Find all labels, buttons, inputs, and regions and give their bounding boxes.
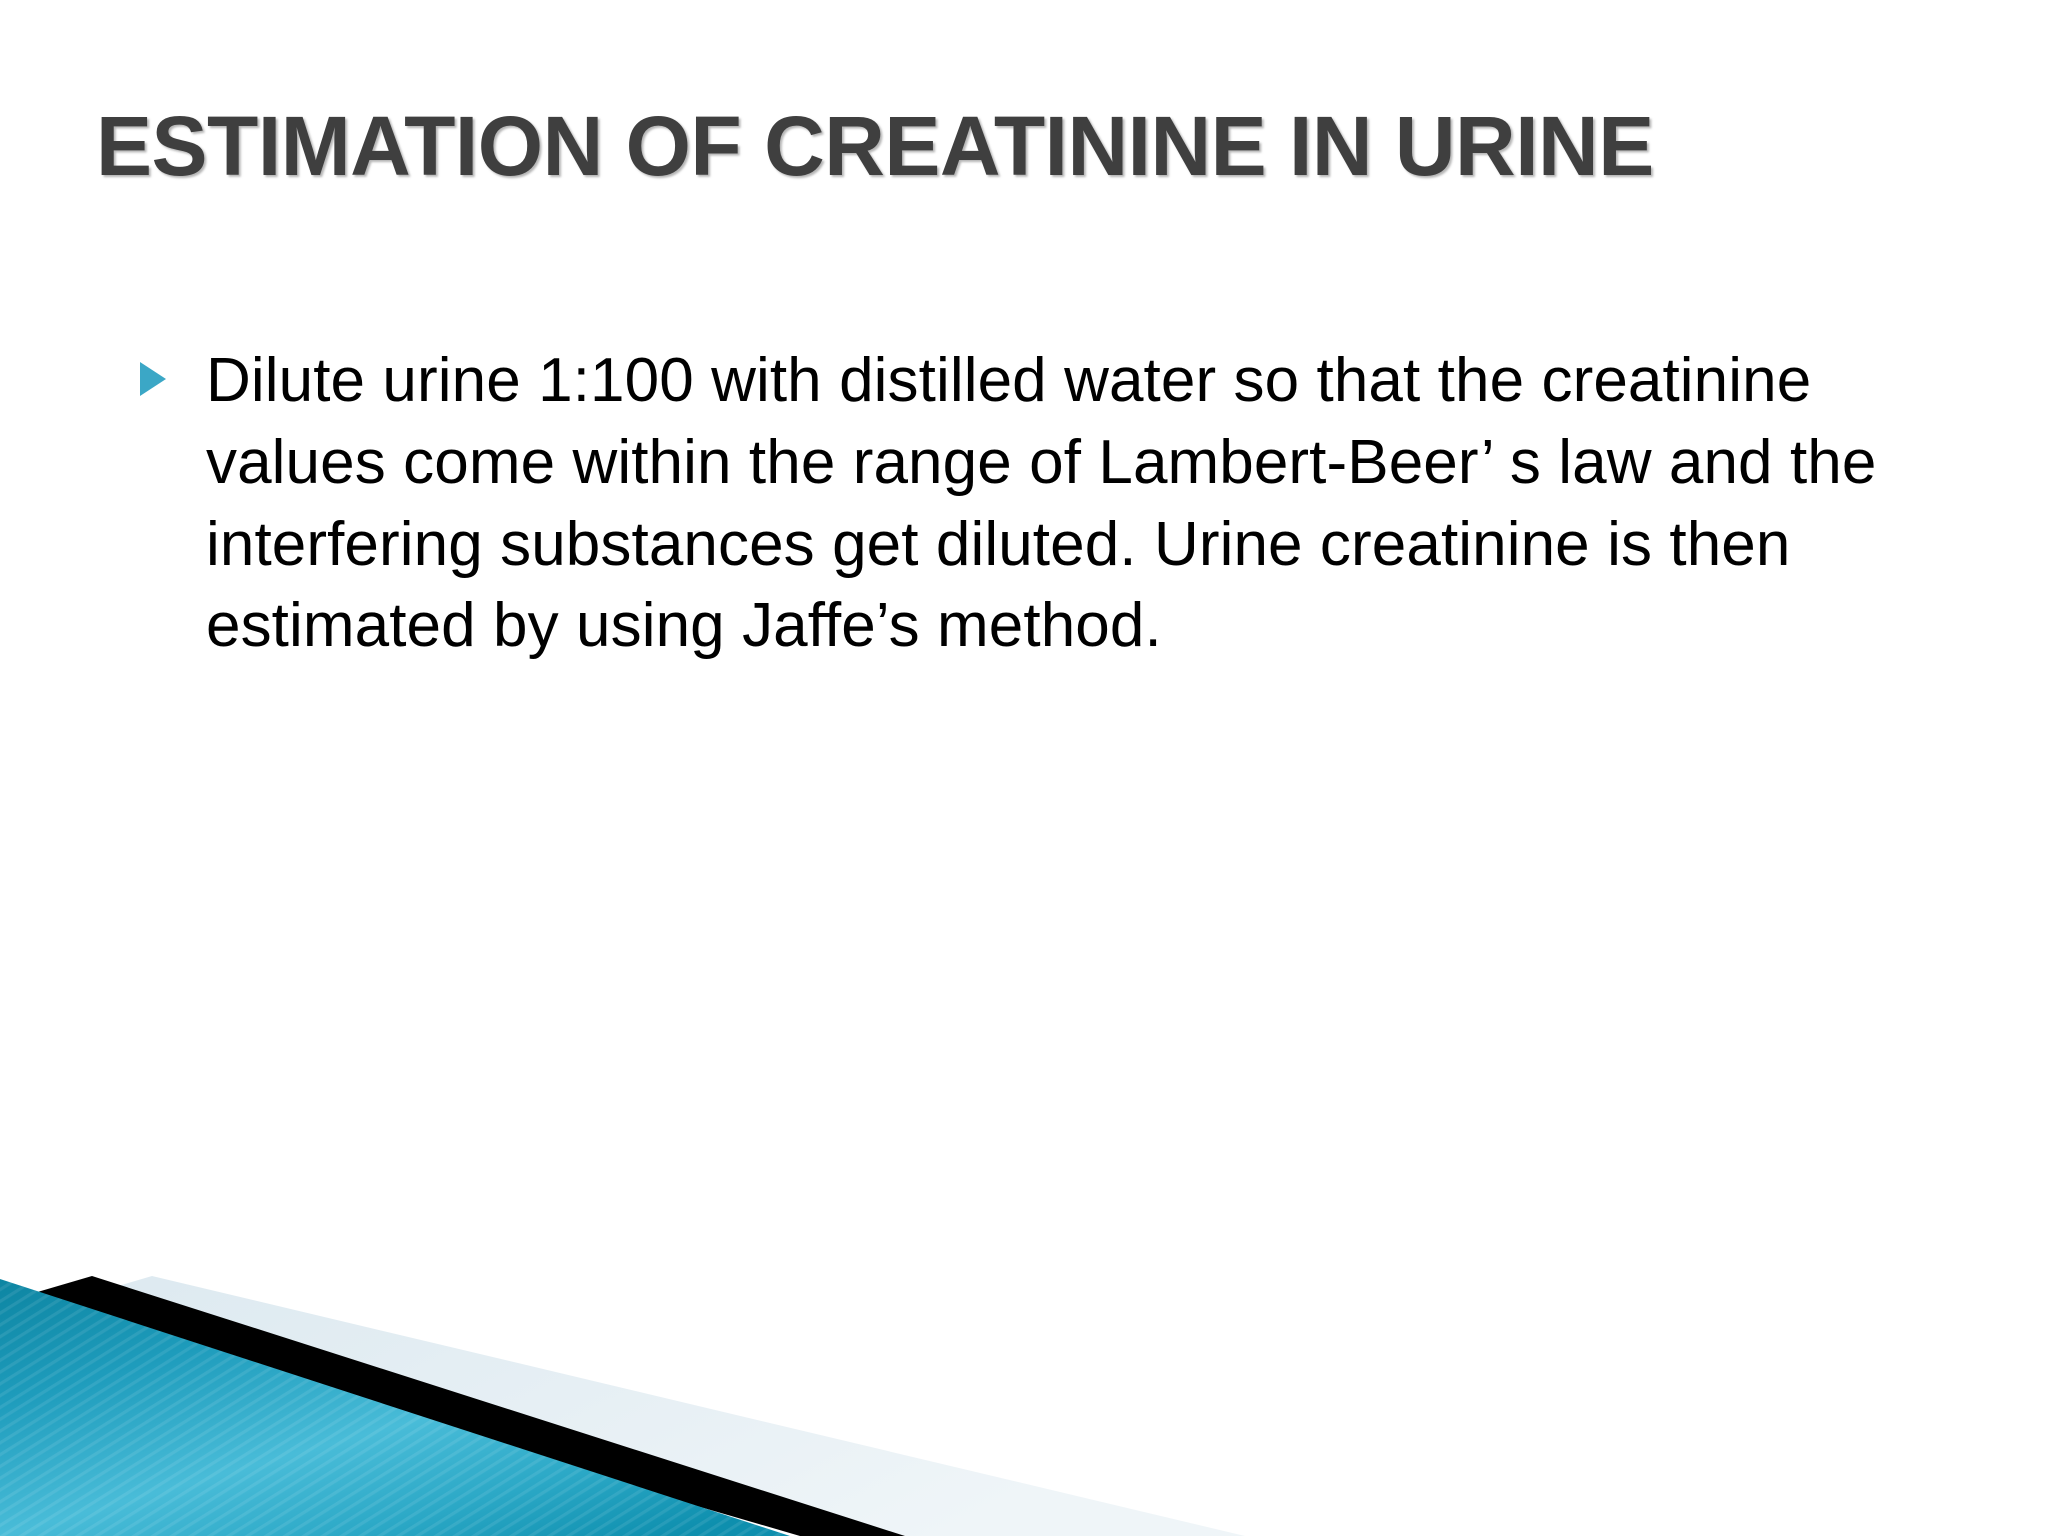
slide-title-container: ESTIMATION OF CREATININE IN URINE (96, 86, 1952, 206)
triangle-right-icon (140, 340, 206, 396)
page-title: ESTIMATION OF CREATININE IN URINE (96, 101, 1654, 192)
slide-canvas: ESTIMATION OF CREATININE IN URINE Dilute… (0, 0, 2048, 1536)
bottom-left-corner-banner (0, 1276, 1400, 1536)
corner-banner-graphic (0, 1276, 1400, 1536)
slide-body-content: Dilute urine 1:100 with distilled water … (140, 340, 1900, 667)
list-item: Dilute urine 1:100 with distilled water … (140, 340, 1900, 667)
bullet-paragraph: Dilute urine 1:100 with distilled water … (206, 340, 1900, 667)
